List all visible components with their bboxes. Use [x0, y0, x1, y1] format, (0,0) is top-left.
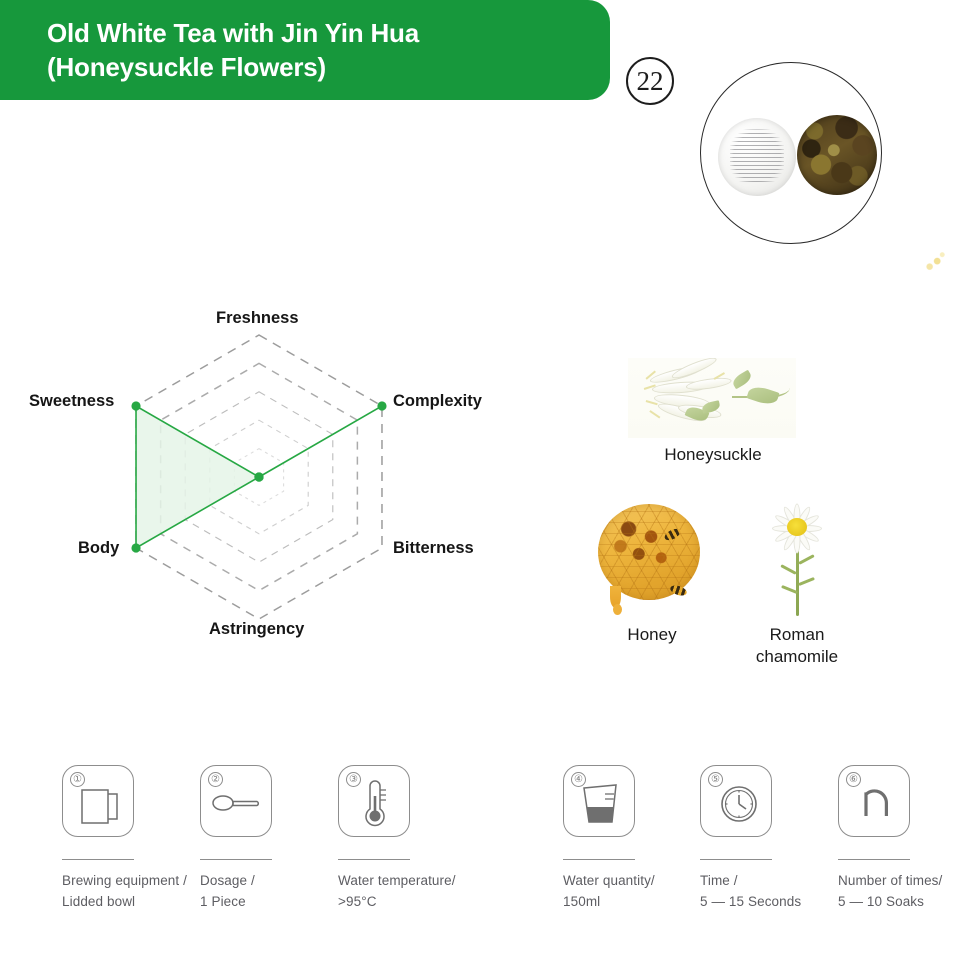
step-number: ③ [346, 772, 361, 787]
step-number: ① [70, 772, 85, 787]
tea-product-card: Old White Tea with Jin Yin Hua (Honeysuc… [0, 0, 960, 960]
spoon-icon: ② [200, 765, 272, 837]
radar-axis-label-astringency: Astringency [209, 620, 304, 639]
step-divider [700, 859, 772, 860]
step-label-3: Water temperature/ >95°C [338, 871, 488, 912]
brewing-step-6: ⑥ Number of times/ 5 — 10 Soaks [838, 765, 960, 912]
radar-svg [0, 295, 520, 665]
step-number: ② [208, 772, 223, 787]
clock-icon: ⑤ [700, 765, 772, 837]
step-number: ④ [571, 772, 586, 787]
radar-axis-label-body: Body [78, 539, 119, 558]
ingredient-roman-chamomile: Roman chamomile [754, 500, 840, 668]
brewing-step-4: ④ Water quantity/ 150ml [563, 765, 713, 912]
chamomile-flower-icon [754, 500, 840, 618]
step-divider [62, 859, 134, 860]
thermometer-icon: ③ [338, 765, 410, 837]
page-title: Old White Tea with Jin Yin Hua (Honeysuc… [0, 16, 459, 85]
flavor-radar-chart: Freshness Complexity Bitterness Astringe… [0, 295, 520, 665]
product-photo-circle [700, 62, 882, 244]
step-label-5: Time / 5 — 15 Seconds [700, 871, 850, 912]
step-label-1: Brewing equipment / Lidded bowl [62, 871, 212, 912]
radar-axis-label-sweetness: Sweetness [29, 392, 114, 411]
lidded-bowl-icon: ① [62, 765, 134, 837]
radar-point-sweetness [131, 401, 140, 410]
ingredient-honey: Honey [592, 500, 712, 646]
ingredient-label-roman-chamomile: Roman chamomile [754, 624, 840, 668]
radar-axis-label-bitterness: Bitterness [393, 539, 474, 558]
ingredient-label-honey: Honey [592, 624, 712, 646]
step-number: ⑥ [846, 772, 861, 787]
honeysuckle-flower-icon [628, 358, 796, 438]
step-number: ⑤ [708, 772, 723, 787]
step-divider [838, 859, 910, 860]
step-label-4: Water quantity/ 150ml [563, 871, 713, 912]
brewing-instructions: ① Brewing equipment / Lidded bowl ② Dosa… [0, 765, 960, 925]
item-number-badge: 22 [626, 57, 674, 105]
radar-point-body [131, 543, 140, 552]
wrapped-tea-cake-icon [718, 118, 796, 196]
brewing-step-5: ⑤ Time / 5 — 15 Seconds [700, 765, 850, 912]
faint-image-remnant [912, 228, 954, 274]
step-divider [563, 859, 635, 860]
step-divider [338, 859, 410, 860]
radar-point-complexity [377, 401, 386, 410]
letter-n-icon: ⑥ [838, 765, 910, 837]
step-divider [200, 859, 272, 860]
brewing-step-1: ① Brewing equipment / Lidded bowl [62, 765, 212, 912]
ingredient-honeysuckle: Honeysuckle [628, 358, 798, 466]
step-label-6: Number of times/ 5 — 10 Soaks [838, 871, 960, 912]
title-bar: Old White Tea with Jin Yin Hua (Honeysuc… [0, 0, 610, 100]
radar-point-astringency [254, 472, 263, 481]
loose-tea-leaves-icon [797, 115, 877, 195]
step-label-2: Dosage / 1 Piece [200, 871, 350, 912]
radar-axis-label-complexity: Complexity [393, 392, 482, 411]
ingredient-label-honeysuckle: Honeysuckle [628, 444, 798, 466]
radar-axis-label-freshness: Freshness [216, 309, 299, 328]
measuring-cup-icon: ④ [563, 765, 635, 837]
honeycomb-icon [592, 500, 712, 618]
brewing-step-2: ② Dosage / 1 Piece [200, 765, 350, 912]
brewing-step-3: ③ Water temperature/ >95°C [338, 765, 488, 912]
